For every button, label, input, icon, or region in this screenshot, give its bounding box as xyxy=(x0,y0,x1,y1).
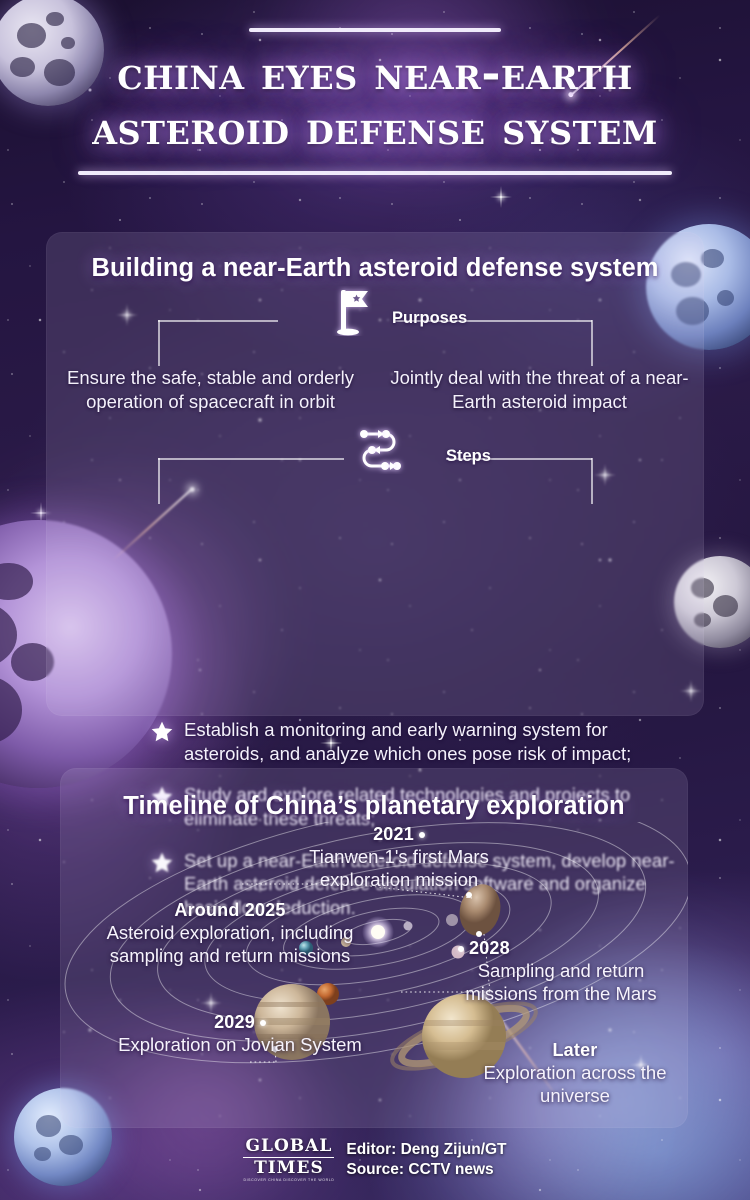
logo-line-global: GLOBAL xyxy=(243,1138,334,1155)
timeline-year-row: 2029 xyxy=(90,1012,390,1033)
defense-system-panel: Building a near-Earth asteroid defense s… xyxy=(46,232,704,716)
timeline-year: 2029 xyxy=(214,1012,255,1033)
credits: Editor: Deng Zijun/GT Source: CCTV news xyxy=(346,1140,506,1181)
step-item: Establish a monitoring and early warning… xyxy=(150,718,680,765)
logo-line-times: TIMES xyxy=(243,1160,334,1177)
flow-steps-icon xyxy=(352,424,412,479)
purposes-label: Purposes xyxy=(392,309,467,328)
footer: GLOBAL TIMES DISCOVER CHINA DISCOVER THE… xyxy=(0,1138,750,1182)
timeline-entry-2028: 2028 Sampling and return missions from t… xyxy=(458,938,678,1006)
infographic-canvas: China eyes near-Earth asteroid defense s… xyxy=(0,0,750,1200)
timeline-year: 2021 xyxy=(373,824,414,845)
defense-panel-title: Building a near-Earth asteroid defense s… xyxy=(46,254,704,283)
timeline-panel-title: Timeline of China’s planetary exploratio… xyxy=(60,792,688,821)
timeline-desc: Tianwen-1's first Mars exploration missi… xyxy=(274,845,524,892)
timeline-desc: Exploration on Jovian System xyxy=(90,1033,390,1056)
timeline-year: 2028 xyxy=(469,938,510,959)
leader-dot xyxy=(419,832,425,838)
star-sparkle xyxy=(500,196,502,198)
leader-dot xyxy=(260,1020,266,1026)
timeline-year: Around 2025 xyxy=(80,900,380,921)
star-sparkle xyxy=(40,512,42,514)
purpose-item: Jointly deal with the threat of a near-E… xyxy=(375,366,704,414)
step-text: Establish a monitoring and early warning… xyxy=(184,718,680,765)
timeline-entry-around-2025: Around 2025 Asteroid exploration, includ… xyxy=(80,900,380,968)
purposes-bracket xyxy=(46,298,704,344)
header: China eyes near-Earth asteroid defense s… xyxy=(0,28,750,175)
title-rule-bottom xyxy=(78,171,672,175)
title-rule-top xyxy=(249,28,501,32)
star-bullet-icon xyxy=(150,720,174,744)
flag-icon xyxy=(332,286,372,341)
page-title: China eyes near-Earth asteroid defense s… xyxy=(0,46,750,155)
global-times-logo: GLOBAL TIMES DISCOVER CHINA DISCOVER THE… xyxy=(243,1138,334,1182)
logo-tagline: DISCOVER CHINA DISCOVER THE WORLD xyxy=(243,1179,334,1183)
timeline-panel: Timeline of China’s planetary exploratio… xyxy=(60,768,688,1128)
timeline-desc: Exploration across the universe xyxy=(460,1061,690,1108)
timeline-entry-2021: 2021 Tianwen-1's first Mars exploration … xyxy=(274,824,524,892)
timeline-entry-later: Later Exploration across the universe xyxy=(460,1040,690,1108)
leader-dot xyxy=(458,946,464,952)
timeline-entry-2029: 2029 Exploration on Jovian System xyxy=(90,1012,390,1056)
purpose-item: Ensure the safe, stable and orderly oper… xyxy=(46,366,375,414)
editor-credit: Editor: Deng Zijun/GT xyxy=(346,1140,506,1160)
timeline-desc: Sampling and return missions from the Ma… xyxy=(444,959,678,1006)
timeline-year: Later xyxy=(460,1040,690,1061)
source-credit: Source: CCTV news xyxy=(346,1160,506,1180)
timeline-desc: Asteroid exploration, including sampling… xyxy=(80,921,380,968)
steps-label: Steps xyxy=(446,447,491,466)
timeline-year-row: 2021 xyxy=(274,824,524,845)
timeline-year-row: 2028 xyxy=(458,938,678,959)
